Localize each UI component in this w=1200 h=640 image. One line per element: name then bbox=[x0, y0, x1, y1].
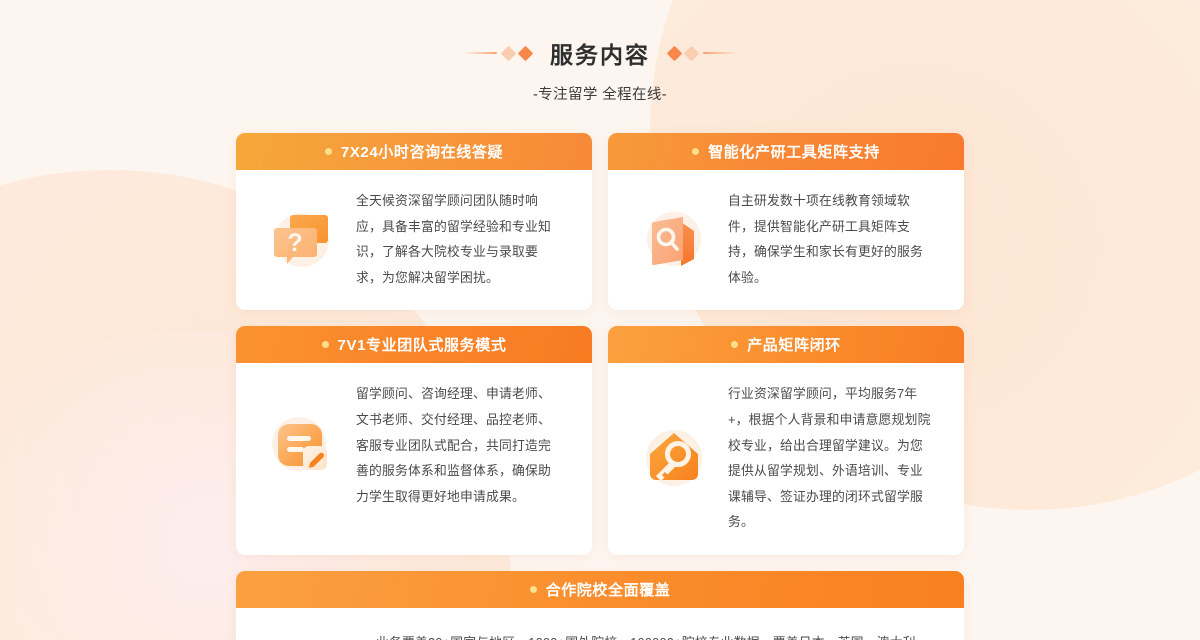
card-title: 7X24小时咨询在线答疑 bbox=[341, 141, 503, 162]
card-body: 业务覆盖20+国家与地区，1000+国外院校，100000+院校专业数据。覆盖日… bbox=[236, 608, 964, 640]
bullet-dot-icon bbox=[692, 148, 699, 155]
card-header: 7V1专业团队式服务模式 bbox=[236, 326, 592, 363]
card-description: 业务覆盖20+国家与地区，1000+国外院校，100000+院校专业数据。覆盖日… bbox=[376, 630, 934, 640]
title-decoration-left bbox=[463, 48, 531, 59]
title-decoration-right bbox=[669, 48, 737, 59]
service-cards-grid: 7X24小时咨询在线答疑 bbox=[236, 133, 964, 640]
card-header: 产品矩阵闭环 bbox=[608, 326, 964, 363]
card-description: 自主研发数十项在线教育领域软件，提供智能化产研工具矩阵支持，确保学生和家长有更好… bbox=[728, 188, 933, 290]
diamond-small-icon bbox=[684, 45, 700, 61]
card-description: 全天候资深留学顾问团队随时响应，具备丰富的留学经验和专业知识，了解各大院校专业与… bbox=[356, 188, 561, 290]
card-header: 合作院校全面覆盖 bbox=[236, 571, 964, 608]
page-subtitle: -专注留学 全程在线- bbox=[0, 83, 1200, 104]
card-title: 智能化产研工具矩阵支持 bbox=[708, 141, 880, 162]
card-title: 合作院校全面覆盖 bbox=[546, 579, 671, 600]
card-description: 留学顾问、咨询经理、申请老师、文书老师、交付经理、品控老师、客服专业团队式配合，… bbox=[356, 381, 561, 509]
diamond-large-icon bbox=[518, 45, 534, 61]
deco-line-icon bbox=[703, 52, 737, 54]
speech-bubbles-question-icon: ? bbox=[254, 202, 350, 276]
page-title: 服务内容 bbox=[550, 36, 650, 70]
section-title-row: 服务内容 bbox=[0, 36, 1200, 70]
card-body: ? 全天候资深留学顾问团队随时响应，具备丰富的留学经验和专业知识，了解各大院校专… bbox=[236, 170, 592, 310]
services-page: 服务内容 -专注留学 全程在线- 7X24小时咨询在线答疑 bbox=[0, 0, 1200, 640]
service-card[interactable]: 智能化产研工具矩阵支持 bbox=[608, 133, 964, 310]
bullet-dot-icon bbox=[530, 586, 537, 593]
section-header: 服务内容 -专注留学 全程在线- bbox=[0, 0, 1200, 104]
deco-line-icon bbox=[463, 52, 497, 54]
card-body: 留学顾问、咨询经理、申请老师、文书老师、交付经理、品控老师、客服专业团队式配合，… bbox=[236, 363, 592, 529]
bullet-dot-icon bbox=[731, 341, 738, 348]
service-card[interactable]: 7V1专业团队式服务模式 bbox=[236, 326, 592, 555]
card-title: 产品矩阵闭环 bbox=[747, 334, 841, 355]
card-header: 智能化产研工具矩阵支持 bbox=[608, 133, 964, 170]
card-description: 行业资深留学顾问，平均服务7年+，根据个人背景和申请意愿规划院校专业，给出合理留… bbox=[728, 381, 933, 535]
service-card[interactable]: 7X24小时咨询在线答疑 bbox=[236, 133, 592, 310]
folder-search-icon bbox=[626, 202, 722, 276]
svg-text:?: ? bbox=[287, 229, 302, 257]
service-card[interactable]: 产品矩阵闭环 行业资深留学 bbox=[608, 326, 964, 555]
diamond-large-icon bbox=[667, 45, 683, 61]
house-key-icon bbox=[626, 421, 722, 495]
card-header: 7X24小时咨询在线答疑 bbox=[236, 133, 592, 170]
card-title: 7V1专业团队式服务模式 bbox=[338, 334, 507, 355]
bullet-dot-icon bbox=[325, 148, 332, 155]
service-card[interactable]: 合作院校全面覆盖 bbox=[236, 571, 964, 640]
card-body: 自主研发数十项在线教育领域软件，提供智能化产研工具矩阵支持，确保学生和家长有更好… bbox=[608, 170, 964, 310]
card-body: 行业资深留学顾问，平均服务7年+，根据个人背景和申请意愿规划院校专业，给出合理留… bbox=[608, 363, 964, 555]
document-edit-icon bbox=[254, 408, 350, 482]
diamond-small-icon bbox=[501, 45, 517, 61]
bullet-dot-icon bbox=[322, 341, 329, 348]
